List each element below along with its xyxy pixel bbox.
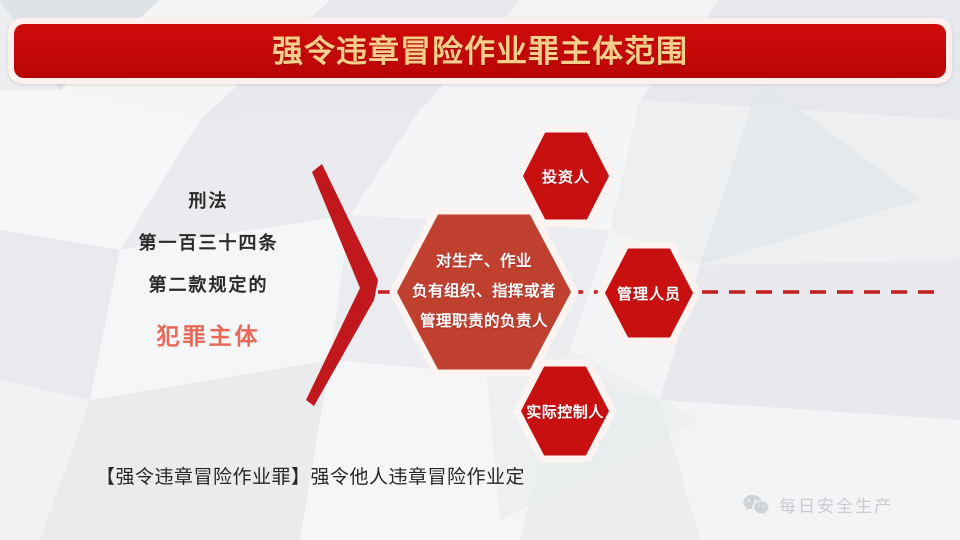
left-text-line-1: 刑法 — [96, 192, 321, 212]
hexagon-shape — [514, 124, 618, 228]
slide-canvas: 强令违章冒险作业罪主体范围 刑法 第一百三十四条 第二款规定的 犯罪主体 对生产… — [0, 0, 960, 540]
left-text-emphasis: 犯罪主体 — [96, 317, 321, 351]
hexagon-actual-controller[interactable]: 实际控制人 — [512, 358, 618, 464]
watermark-text: 每日安全生产 — [779, 492, 893, 517]
left-text-line-2: 第一百三十四条 — [96, 234, 321, 254]
red-chevron-arrow-icon — [300, 160, 390, 410]
left-text-line-3: 第二款规定的 — [96, 276, 321, 296]
hexagon-shape — [596, 240, 702, 346]
title-banner: 强令违章冒险作业罪主体范围 — [14, 24, 946, 78]
hexagon-shape — [388, 206, 580, 378]
watermark: 每日安全生产 — [742, 492, 893, 517]
wechat-icon — [742, 493, 770, 517]
hexagon-central-definition[interactable]: 对生产、作业 负有组织、指挥或者 管理职责的负责人 — [388, 206, 580, 378]
page-title: 强令违章冒险作业罪主体范围 — [272, 36, 688, 67]
hexagon-management-staff[interactable]: 管理人员 — [596, 240, 702, 346]
hexagon-investor[interactable]: 投资人 — [514, 124, 618, 228]
bottom-caption: 【强令违章冒险作业罪】强令他人违章冒险作业定 — [96, 462, 525, 489]
hexagon-shape — [512, 358, 618, 464]
left-text-block: 刑法 第一百三十四条 第二款规定的 犯罪主体 — [96, 192, 321, 351]
